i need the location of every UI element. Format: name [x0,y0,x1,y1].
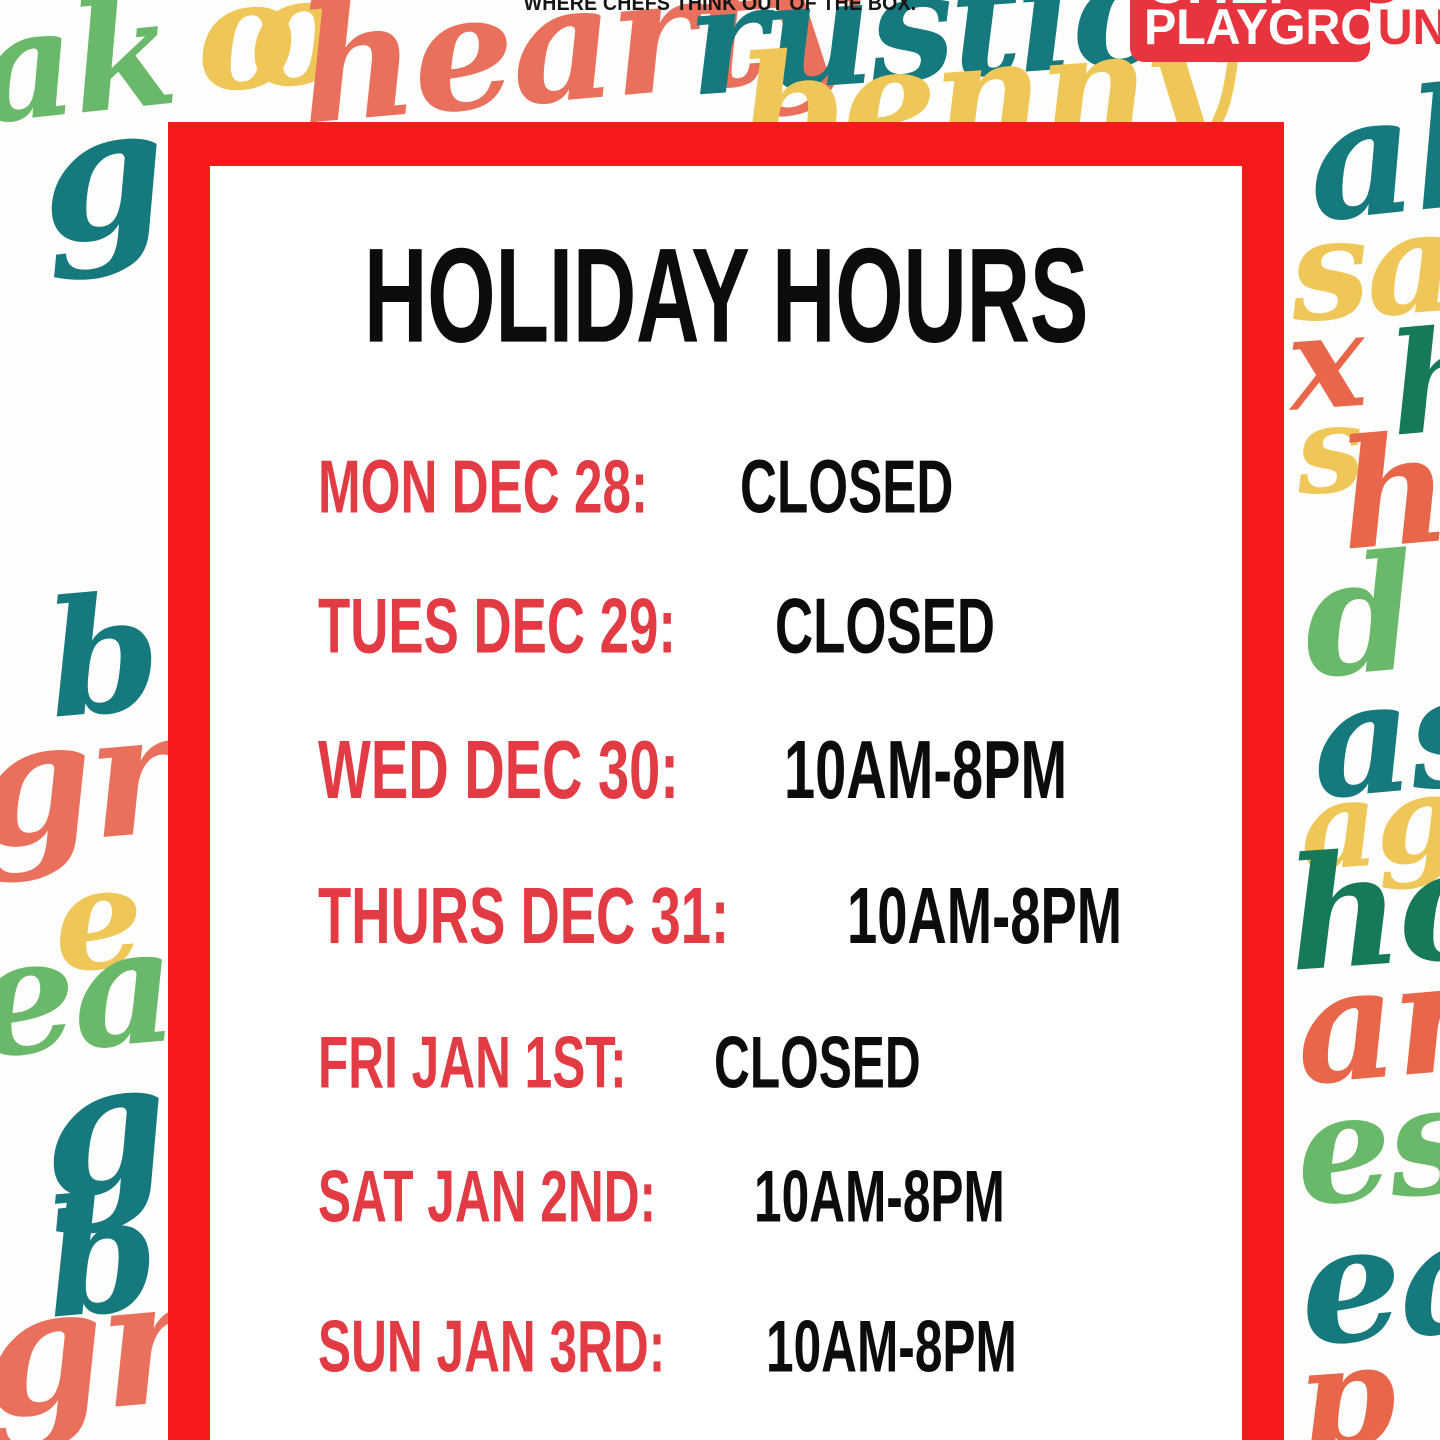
hours-row-value: 10AM-8PM [784,723,1067,817]
hours-row: FRI JAN 1ST:CLOSED [318,1034,972,1105]
hours-row-value: CLOSED [714,1021,921,1105]
hours-row-day: SAT JAN 2ND: [318,1155,656,1239]
hours-row-day: TUES DEC 29: [318,580,676,670]
poster-canvas: akooheartyrusticbennygaak frsausxhsheabg… [0,0,1440,1440]
poster-white-card: HOLIDAY HOURS MON DEC 28:CLOSEDTUES DEC … [210,166,1242,1440]
hours-row-value: 10AM-8PM [847,870,1122,962]
hours-row-value: CLOSED [775,580,995,670]
poster-red-frame: HOLIDAY HOURS MON DEC 28:CLOSEDTUES DEC … [168,122,1284,1440]
hours-row-value: 10AM-8PM [754,1155,1005,1239]
logo-playground-text: PLAYGRO [1144,2,1378,52]
hours-row-day: WED DEC 30: [318,723,679,817]
hours-row: SUN JAN 3RD:10AM-8PM [318,1318,1079,1389]
hours-row-day: THURS DEC 31: [318,870,729,962]
hours-row: MON DEC 28:CLOSED [318,456,1007,530]
background-script-word: p se [1294,1323,1440,1440]
hours-row-value: 10AM-8PM [766,1305,1017,1389]
hours-row-value: CLOSED [740,443,953,530]
hours-row-day: MON DEC 28: [318,443,648,530]
hours-row: TUES DEC 29:CLOSED [318,594,1050,670]
hours-row-day: FRI JAN 1ST: [318,1021,627,1105]
page-title: HOLIDAY HOURS [334,228,1118,363]
hours-row-day: SUN JAN 3RD: [318,1305,665,1389]
hours-row: SAT JAN 2ND:10AM-8PM [318,1168,1068,1239]
hours-row: WED DEC 30:10AM-8PM [318,737,1138,817]
chefs-playground-logo: PLAYGROUND CHEF 'S PLAYGRO [1130,0,1422,62]
hours-row: THURS DEC 31:10AM-8PM [318,884,1191,962]
